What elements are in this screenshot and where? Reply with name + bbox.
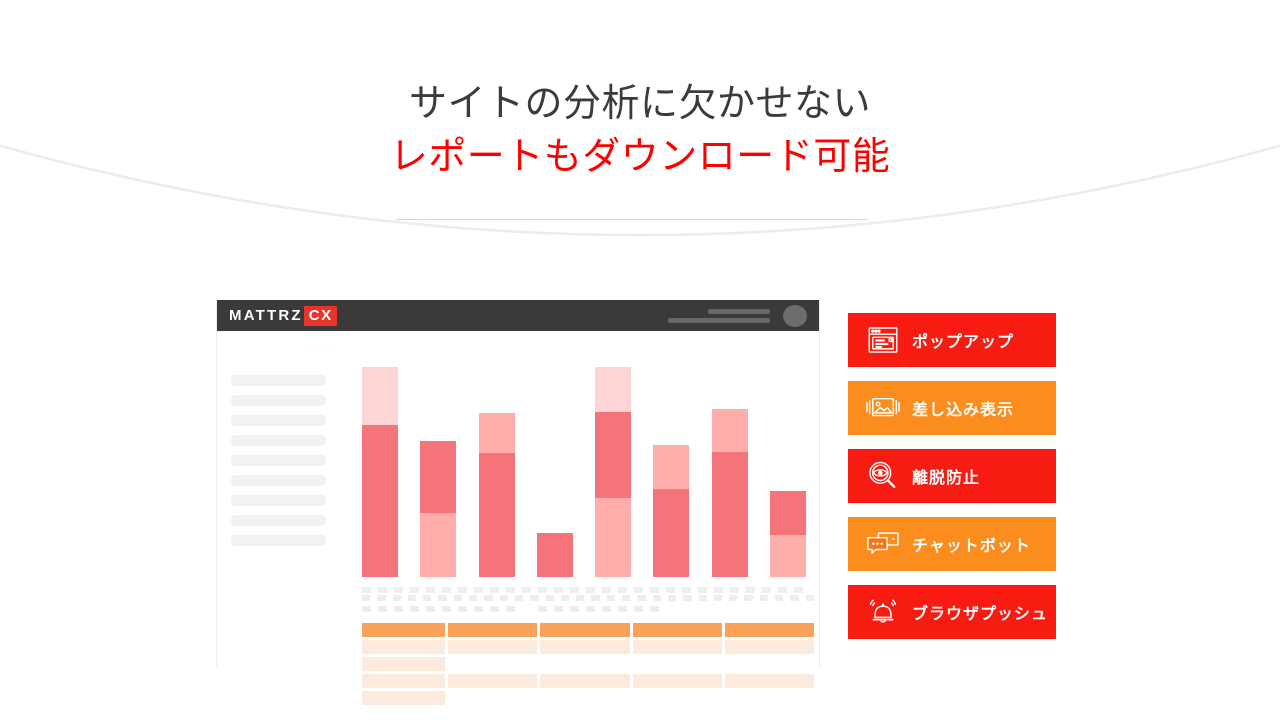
chart-bar-segment [479,453,515,577]
image-carousel-icon [862,389,904,427]
label-dash [744,595,752,601]
label-dash [637,595,645,601]
label-dash [408,595,416,601]
axis-tick [634,587,643,593]
label-dash [426,606,435,612]
table-cell [633,657,722,671]
axis-tick [794,587,803,593]
label-placeholder-row [362,606,814,612]
table-header-cell [362,623,445,637]
chart-plot-area [362,371,806,577]
chart-axis-ticks [362,587,806,593]
sidebar-placeholder-item [231,435,326,446]
axis-tick [746,587,755,593]
chart-bar-segment [770,535,806,577]
chart-bar [770,491,806,577]
table-cell [633,691,722,705]
axis-tick [474,587,483,593]
axis-tick [554,587,563,593]
feature-button-label: 差し込み表示 [912,396,1014,420]
chart-bar [420,441,456,577]
chart-bar-segment [595,367,631,412]
label-dash [474,606,483,612]
table-cell [362,640,445,654]
label-dash [760,595,768,601]
table-cell [540,691,629,705]
nav-placeholder-bars [668,309,770,323]
label-dash [546,595,554,601]
data-table [362,623,814,708]
label-dash [591,595,599,601]
label-placeholder-row [362,595,814,601]
brand-logo: MATTRZCX [229,306,337,326]
chart-bar-segment [537,533,573,577]
sidebar-placeholder-item [231,395,326,406]
chart-bar [362,367,398,577]
sidebar-placeholder-item [231,475,326,486]
label-dash [515,595,523,601]
label-dash [570,606,579,612]
eye-magnifier-icon [862,457,904,495]
label-dash [458,606,467,612]
chart-bar [595,367,631,577]
axis-tick [762,587,771,593]
sidebar-placeholder-item [231,415,326,426]
label-dash [554,606,563,612]
label-dash [775,595,783,601]
bar-chart [362,371,806,593]
app-preview-window: MATTRZCX [216,300,820,667]
label-dash [729,595,737,601]
axis-tick [666,587,675,593]
table-row [362,674,814,688]
axis-tick [714,587,723,593]
label-dash [561,595,569,601]
axis-tick [490,587,499,593]
table-row [362,691,814,705]
label-dash [668,595,676,601]
headline-line-2: レポートもダウンロード可能 [0,130,1280,184]
table-cell [362,691,445,705]
label-dash [490,606,499,612]
table-row [362,640,814,654]
table-cell [725,640,814,654]
feature-button-3[interactable]: 離脱防止 [848,449,1056,503]
popup-window-icon [862,321,904,359]
page-title: サイトの分析に欠かせない レポートもダウンロード可能 [0,78,1280,184]
label-dash [378,606,387,612]
axis-tick [394,587,403,593]
chart-bar-segment [420,441,456,513]
label-dash [469,595,477,601]
ringing-bell-icon [862,593,904,631]
axis-tick [570,587,579,593]
label-dash [362,595,370,601]
sidebar-placeholder-item [231,495,326,506]
table-header-cell [448,623,537,637]
table-cell [633,640,722,654]
chart-bar-segment [362,367,398,425]
label-dash [410,606,419,612]
chart-bar-segment [712,452,748,577]
label-dash [650,606,659,612]
table-cell [540,640,629,654]
axis-tick [506,587,515,593]
table-row [362,657,814,671]
label-dash [806,595,814,601]
sidebar-placeholder-list [231,375,326,546]
label-dash [438,595,446,601]
label-dash [393,595,401,601]
feature-button-list: ポップアップ 差し込み表示 離脱防止 チャットボット [848,313,1056,639]
feature-button-4[interactable]: チャットボット [848,517,1056,571]
label-dash [530,595,538,601]
label-dash [506,606,515,612]
titlebar-right-group [668,300,807,331]
brand-name: MATTRZ [229,307,303,324]
axis-tick [522,587,531,593]
label-dash [377,595,385,601]
chart-bar-segment [362,425,398,577]
label-dash [576,595,584,601]
app-titlebar: MATTRZCX [217,300,819,331]
brand-badge: CX [304,306,337,326]
axis-tick [458,587,467,593]
chart-bar-segment [420,513,456,577]
table-cell [633,674,722,688]
feature-button-label: ポップアップ [912,328,1014,352]
chart-bar-segment [595,412,631,498]
axis-tick [618,587,627,593]
label-dash [423,595,431,601]
axis-tick [362,587,371,593]
axis-tick [442,587,451,593]
nav-placeholder-bar-bottom [668,318,770,323]
axis-tick [650,587,659,593]
axis-tick [730,587,739,593]
feature-button-5[interactable]: ブラウザプッシュ [848,585,1056,639]
feature-button-1[interactable]: ポップアップ [848,313,1056,367]
headline-line-1: サイトの分析に欠かせない [0,78,1280,130]
table-cell [540,657,629,671]
label-dash [538,606,547,612]
table-cell [725,657,814,671]
axis-tick [378,587,387,593]
avatar[interactable] [783,305,807,327]
label-dash [586,606,595,612]
label-dash [362,606,371,612]
chart-bar-segment [712,409,748,452]
label-dash [442,606,451,612]
label-dash [454,595,462,601]
slide-root: サイトの分析に欠かせない レポートもダウンロード可能 MATTRZCX [0,0,1280,720]
app-body [217,331,819,667]
axis-tick [538,587,547,593]
label-dash [602,606,611,612]
table-row [362,623,814,637]
feature-button-2[interactable]: 差し込み表示 [848,381,1056,435]
label-dash [699,595,707,601]
label-dash [683,595,691,601]
nav-placeholder-bar-top [708,309,770,314]
label-dash [714,595,722,601]
label-dash [790,595,798,601]
table-cell [448,674,537,688]
axis-tick [410,587,419,593]
feature-button-label: チャットボット [912,532,1031,556]
table-cell [362,674,445,688]
label-dash [394,606,403,612]
table-cell [725,674,814,688]
table-cell [448,657,537,671]
chart-bar [712,409,748,577]
table-cell [362,657,445,671]
feature-button-label: 離脱防止 [912,464,980,488]
sidebar-placeholder-item [231,535,326,546]
chart-bar-segment [770,491,806,535]
chart-bar-segment [653,445,689,489]
headline-divider [396,219,868,220]
label-dash [653,595,661,601]
table-header-cell [725,623,814,637]
chart-bar [479,413,515,577]
chart-label-placeholders [362,595,814,617]
axis-tick [426,587,435,593]
label-dash [484,595,492,601]
chat-bubbles-icon [862,525,904,563]
label-dash [607,595,615,601]
table-cell [448,691,537,705]
table-cell [540,674,629,688]
feature-button-label: ブラウザプッシュ [912,600,1048,624]
sidebar-placeholder-item [231,455,326,466]
table-cell [725,691,814,705]
axis-tick [602,587,611,593]
chart-bar-segment [479,413,515,453]
axis-tick [682,587,691,593]
table-header-cell [633,623,722,637]
chart-bar [653,445,689,577]
sidebar-placeholder-item [231,515,326,526]
chart-bar [537,533,573,577]
chart-bar-segment [595,498,631,577]
label-dash [522,606,531,612]
label-dash [634,606,643,612]
label-dash [618,606,627,612]
axis-tick [778,587,787,593]
axis-tick [698,587,707,593]
sidebar-placeholder-item [231,375,326,386]
label-dash [500,595,508,601]
label-dash [622,595,630,601]
table-header-cell [540,623,629,637]
table-cell [448,640,537,654]
axis-tick [586,587,595,593]
chart-bar-segment [653,489,689,577]
